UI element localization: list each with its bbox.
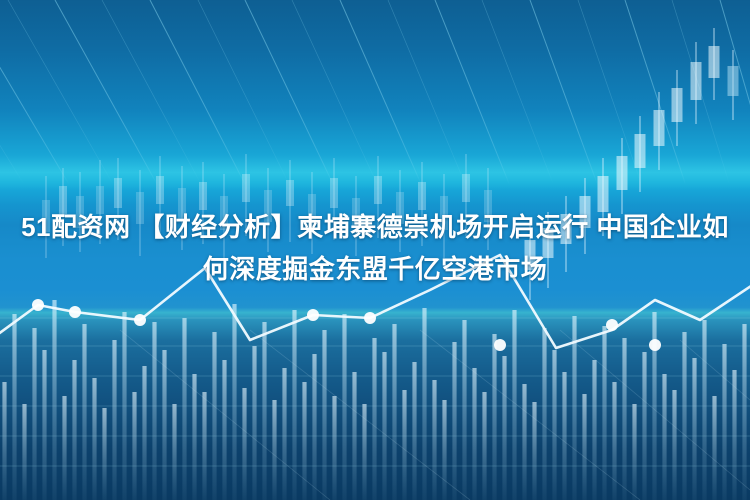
trend-line-marker [134,314,146,326]
trend-line-marker [307,309,319,321]
trend-line-marker [32,299,44,311]
banner-image: 51配资网 【财经分析】柬埔寨德崇机场开启运行 中国企业如 何深度掘金东盟千亿空… [0,0,750,500]
headline-text: 51配资网 【财经分析】柬埔寨德崇机场开启运行 中国企业如 何深度掘金东盟千亿空… [0,206,750,290]
trend-line-marker [606,319,618,331]
trend-line-marker [364,312,376,324]
trend-line-marker [649,339,661,351]
trend-line-marker [69,306,81,318]
trend-line-marker [494,339,506,351]
headline-line-2: 何深度掘金东盟千亿空港市场 [18,248,732,290]
headline-line-1: 51配资网 【财经分析】柬埔寨德崇机场开启运行 中国企业如 [18,206,732,248]
